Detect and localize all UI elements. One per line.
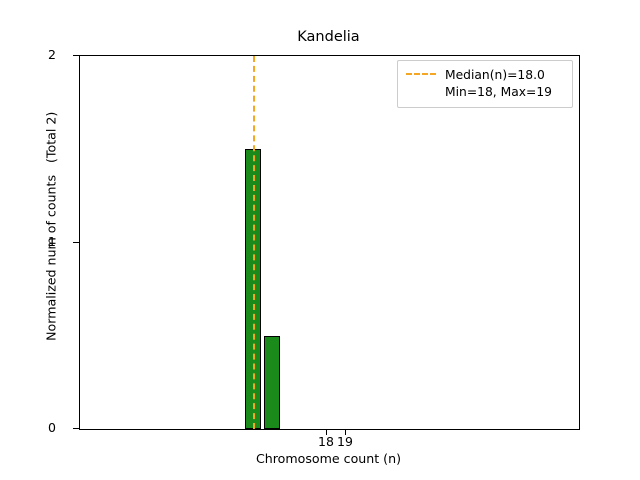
chart-title: Kandelia (79, 30, 578, 45)
plot-inner (80, 56, 579, 429)
legend: Median(n)=18.0 Min=18, Max=19 (397, 60, 573, 108)
y-axis-label: Normalized num of counts (Total 2) (46, 26, 59, 426)
legend-labels: Median(n)=18.0 Min=18, Max=19 (445, 67, 552, 100)
matplotlib-figure: Kandelia 2 1 0 Normalized num of counts … (0, 0, 640, 480)
plot-area (79, 55, 580, 430)
x-axis-tick-label-19: 19 (337, 436, 353, 449)
legend-label-minmax: Min=18, Max=19 (445, 84, 552, 101)
x-axis-label: Chromosome count (n) (79, 453, 578, 466)
x-axis-tick-label-18: 18 (318, 436, 334, 449)
legend-label-median: Median(n)=18.0 (445, 67, 552, 84)
legend-row: Median(n)=18.0 Min=18, Max=19 (406, 67, 564, 100)
dashed-line-icon (406, 67, 436, 81)
bar-19 (264, 336, 280, 429)
median-line (253, 56, 255, 429)
